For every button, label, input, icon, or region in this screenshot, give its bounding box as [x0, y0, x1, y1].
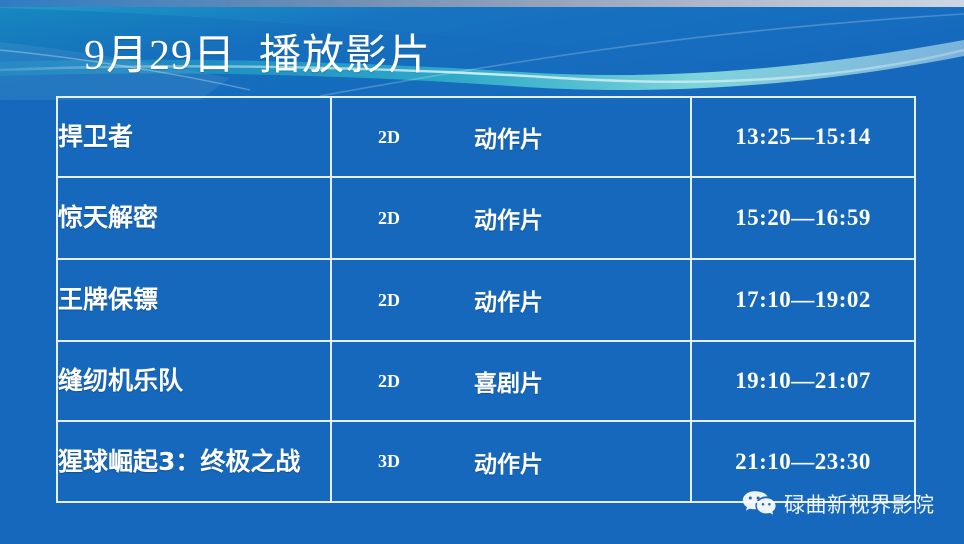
movie-format-genre: 2D 喜剧片 [331, 341, 691, 421]
movie-format: 3D [378, 451, 474, 472]
movie-genre: 动作片 [474, 445, 543, 479]
movie-title: 缝纫机乐队 [57, 341, 331, 421]
movie-showtime: 17:10—19:02 [691, 259, 915, 341]
top-edge-strip [0, 0, 964, 7]
movie-format: 2D [378, 208, 474, 229]
movie-format-genre: 2D 动作片 [331, 259, 691, 341]
wechat-icon [742, 490, 776, 518]
movie-showtime: 13:25—15:14 [691, 97, 915, 177]
movie-format-genre: 3D 动作片 [331, 421, 691, 502]
movie-genre: 喜剧片 [474, 364, 543, 398]
movie-genre: 动作片 [474, 201, 543, 235]
movie-showtime: 19:10—21:07 [691, 341, 915, 421]
movie-format-genre: 2D 动作片 [331, 97, 691, 177]
movie-format: 2D [378, 290, 474, 311]
wechat-watermark: 碌曲新视界影院 [742, 489, 935, 519]
wechat-account-name: 碌曲新视界影院 [784, 489, 935, 519]
movie-title: 捍卫者 [57, 97, 331, 177]
movie-genre: 动作片 [474, 120, 543, 154]
page-title: 9月29日 播放影片 [84, 30, 431, 82]
movie-title: 猩球崛起3：终极之战 [57, 421, 331, 502]
movie-showtime: 15:20—16:59 [691, 177, 915, 259]
table-row: 捍卫者 2D 动作片 13:25—15:14 [57, 97, 915, 177]
showtimes-table: 捍卫者 2D 动作片 13:25—15:14 惊天解密 2D 动作片 [56, 96, 916, 503]
table-row: 惊天解密 2D 动作片 15:20—16:59 [57, 177, 915, 259]
table-row: 缝纫机乐队 2D 喜剧片 19:10—21:07 [57, 341, 915, 421]
movie-format-genre: 2D 动作片 [331, 177, 691, 259]
movie-title: 惊天解密 [57, 177, 331, 259]
movie-title: 王牌保镖 [57, 259, 331, 341]
movie-format: 2D [378, 371, 474, 392]
movie-genre: 动作片 [474, 283, 543, 317]
table-row: 王牌保镖 2D 动作片 17:10—19:02 [57, 259, 915, 341]
presentation-slide: 9月29日 播放影片 捍卫者 2D 动作片 13:25—15:14 惊天解密 [0, 0, 964, 544]
movie-format: 2D [378, 127, 474, 148]
